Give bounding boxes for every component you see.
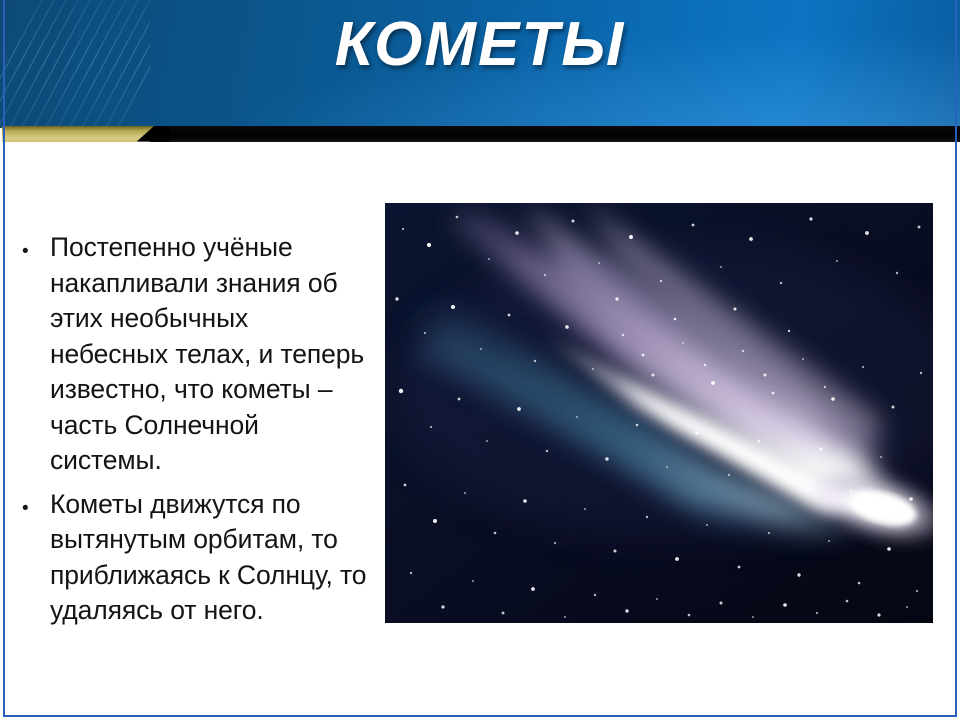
bullet-list: • Постепенно учёные накапливали знания о…: [22, 230, 370, 637]
divider-black-bar: [150, 126, 960, 142]
comet-photo: [385, 203, 933, 623]
slide-title: КОМЕТЫ: [0, 14, 960, 76]
comet-photo-illustration: [385, 203, 933, 623]
slide-header: КОМЕТЫ: [0, 0, 960, 128]
slide-body: • Постепенно учёные накапливали знания о…: [0, 142, 960, 720]
bullet-text-1: Постепенно учёные накапливали знания об …: [50, 230, 370, 479]
bullet-text-2: Кометы движутся по вытянутым орбитам, то…: [50, 487, 370, 629]
slide-border-right: [955, 0, 957, 142]
slide-border-left: [3, 0, 5, 142]
list-item: • Кометы движутся по вытянутым орбитам, …: [22, 487, 370, 629]
bullet-marker-icon: •: [22, 230, 50, 261]
presentation-slide: КОМЕТЫ • Постепенно учёные накапливали з…: [0, 0, 960, 720]
list-item: • Постепенно учёные накапливали знания о…: [22, 230, 370, 479]
bullet-marker-icon: •: [22, 487, 50, 518]
